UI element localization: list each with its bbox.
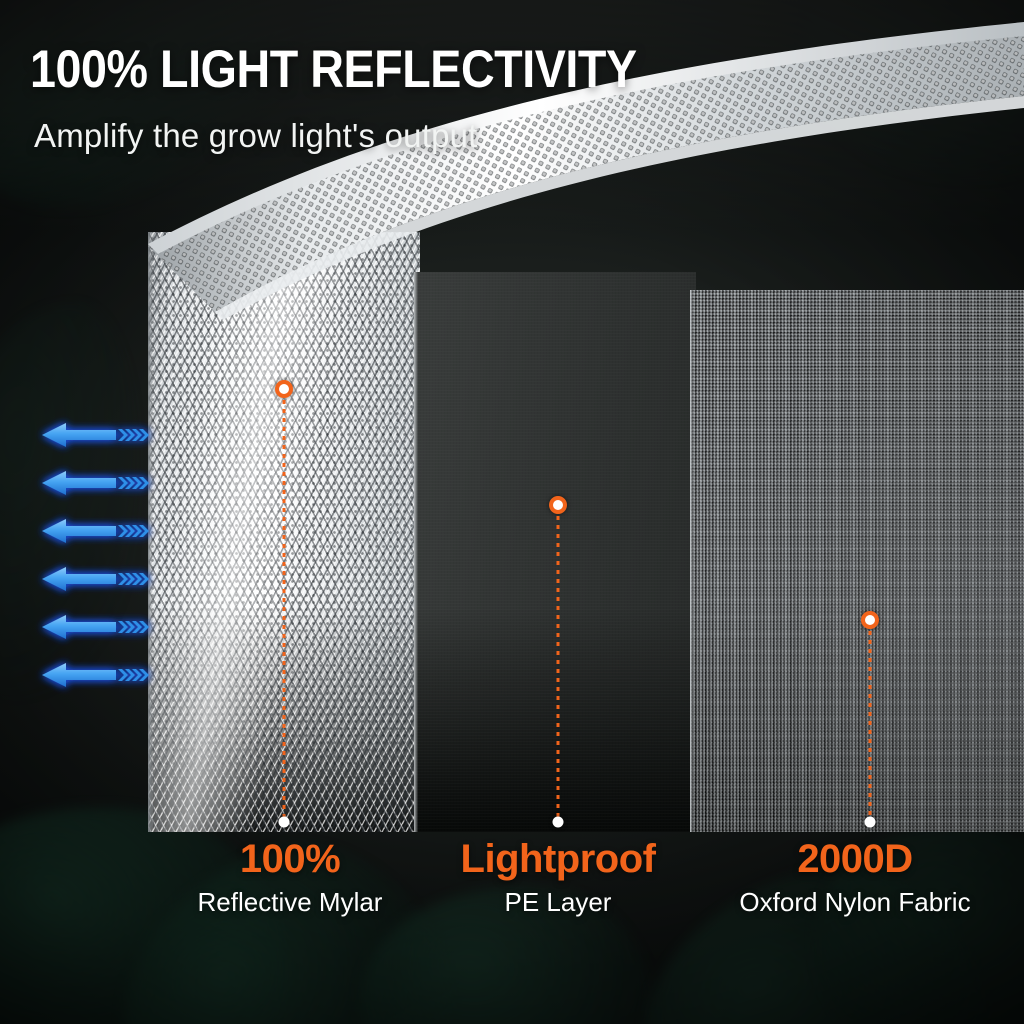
callout-title-pe: Lightproof: [461, 838, 656, 880]
pe-matte-texture: [414, 272, 696, 832]
arrow-group: [42, 423, 149, 687]
callout-label-mylar: 100% Reflective Mylar: [198, 838, 383, 920]
light-arrow: [42, 471, 149, 495]
callout-line-nylon: [869, 631, 872, 818]
callout-label-nylon: 2000D Oxford Nylon Fabric: [739, 838, 970, 920]
callout-marker-nylon: [861, 611, 879, 629]
layer-pe: [414, 272, 696, 832]
callout-endpoint-nylon: [865, 817, 876, 828]
callout-subtitle-mylar: Reflective Mylar: [198, 885, 383, 920]
pe-left-edge: [414, 272, 418, 832]
infographic-canvas: 100% LIGHT REFLECTIVITY Amplify the grow…: [0, 0, 1024, 1024]
callout-endpoint-pe: [553, 817, 564, 828]
light-arrow: [42, 519, 149, 543]
light-arrow: [42, 423, 149, 447]
callout-marker-mylar: [275, 380, 293, 398]
layer-oxford-nylon: [690, 290, 1024, 832]
light-arrow: [42, 663, 149, 687]
light-arrow: [42, 567, 149, 591]
callout-marker-pe: [549, 496, 567, 514]
callout-line-mylar: [283, 400, 286, 818]
callout-title-nylon: 2000D: [739, 838, 970, 880]
callout-title-mylar: 100%: [198, 838, 383, 880]
nylon-weave-highlights: [690, 290, 1024, 832]
page-subheadline: Amplify the grow light's output: [34, 117, 478, 155]
callout-line-pe: [557, 516, 560, 818]
light-arrow: [42, 615, 149, 639]
callout-subtitle-pe: PE Layer: [461, 885, 656, 920]
callout-label-pe: Lightproof PE Layer: [461, 838, 656, 920]
nylon-left-edge: [690, 290, 693, 832]
callout-subtitle-nylon: Oxford Nylon Fabric: [739, 885, 970, 920]
reflected-light-arrows: [30, 405, 190, 695]
page-headline: 100% LIGHT REFLECTIVITY: [30, 42, 637, 97]
callout-endpoint-mylar: [279, 817, 290, 828]
